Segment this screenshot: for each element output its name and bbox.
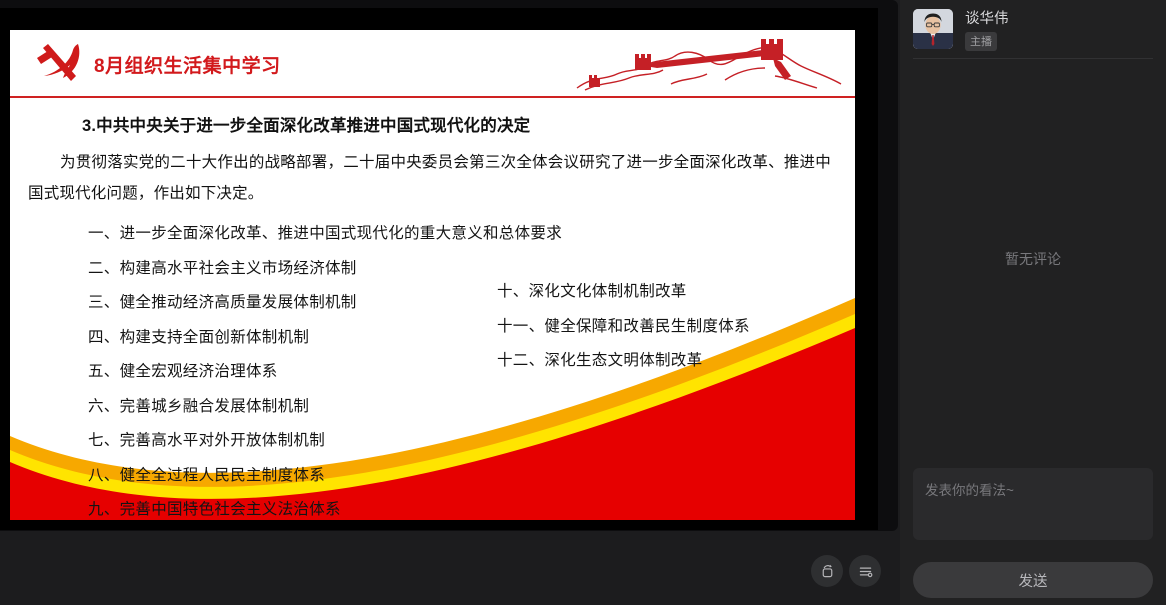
list-item: 十、深化文化体制机制改革	[497, 275, 750, 310]
list-item: 一、进一步全面深化改革、推进中国式现代化的重大意义和总体要求	[88, 217, 562, 252]
settings-button[interactable]	[849, 555, 881, 587]
empty-comments-text: 暂无评论	[1005, 249, 1061, 269]
list-item: 七、完善高水平对外开放体制机制	[88, 424, 562, 459]
status-badge: 主播	[965, 32, 997, 51]
side-panel: 谈华伟 主播 暂无评论 发送	[900, 0, 1166, 605]
list-item: 六、完善城乡融合发展体制机制	[88, 390, 562, 425]
list-item: 五、健全宏观经济治理体系	[88, 355, 562, 390]
list-item: 三、健全推动经济高质量发展体制机制	[88, 286, 562, 321]
avatar[interactable]	[913, 9, 953, 49]
presenter-name: 谈华伟	[965, 10, 1009, 28]
list-item: 十二、深化生态文明体制改革	[497, 344, 750, 379]
list-item: 二、构建高水平社会主义市场经济体制	[88, 252, 562, 287]
slide-title: 8月组织生活集中学习	[94, 51, 281, 78]
comment-input[interactable]	[913, 468, 1153, 540]
header-divider	[10, 96, 855, 98]
video-stage[interactable]: 8月组织生活集中学习	[0, 0, 898, 531]
chapter-list: 一、进一步全面深化改革、推进中国式现代化的重大意义和总体要求 二、构建高水平社会…	[10, 217, 855, 517]
document-paragraph: 为贯彻落实党的二十大作出的战略部署，二十届中央委员会第三次全体会议研究了进一步全…	[28, 147, 831, 209]
list-item: 十一、健全保障和改善民生制度体系	[497, 310, 750, 345]
comment-composer: 发送	[913, 468, 1153, 598]
live-stream-page: 8月组织生活集中学习	[0, 0, 1166, 605]
comment-list[interactable]: 暂无评论	[900, 59, 1166, 459]
chapter-column-left: 一、进一步全面深化改革、推进中国式现代化的重大意义和总体要求 二、构建高水平社会…	[88, 217, 562, 520]
chapter-column-right: 十、深化文化体制机制改革 十一、健全保障和改善民生制度体系 十二、深化生态文明体…	[497, 275, 750, 379]
presenter-avatar	[913, 9, 953, 49]
list-item: 四、构建支持全面创新体制机制	[88, 321, 562, 356]
party-hammer-sickle-icon	[32, 38, 90, 90]
list-item: 九、完善中国特色社会主义法治体系	[88, 493, 562, 520]
settings-sliders-icon	[857, 563, 874, 580]
rotate-screen-icon	[819, 563, 836, 580]
send-button[interactable]: 发送	[913, 562, 1153, 598]
document-heading: 3.中共中央关于进一步全面深化改革推进中国式现代化的决定	[82, 112, 855, 136]
list-item: 八、健全全过程人民民主制度体系	[88, 459, 562, 494]
presenter-header: 谈华伟 主播	[900, 0, 1166, 58]
presentation-slide: 8月组织生活集中学习	[10, 30, 855, 520]
rotate-screen-button[interactable]	[811, 555, 843, 587]
slide-body: 3.中共中央关于进一步全面深化改革推进中国式现代化的决定 为贯彻落实党的二十大作…	[10, 100, 855, 517]
presenter-meta: 谈华伟 主播	[965, 9, 1009, 58]
slide-header: 8月组织生活集中学习	[10, 30, 855, 98]
great-wall-icon	[575, 32, 855, 96]
